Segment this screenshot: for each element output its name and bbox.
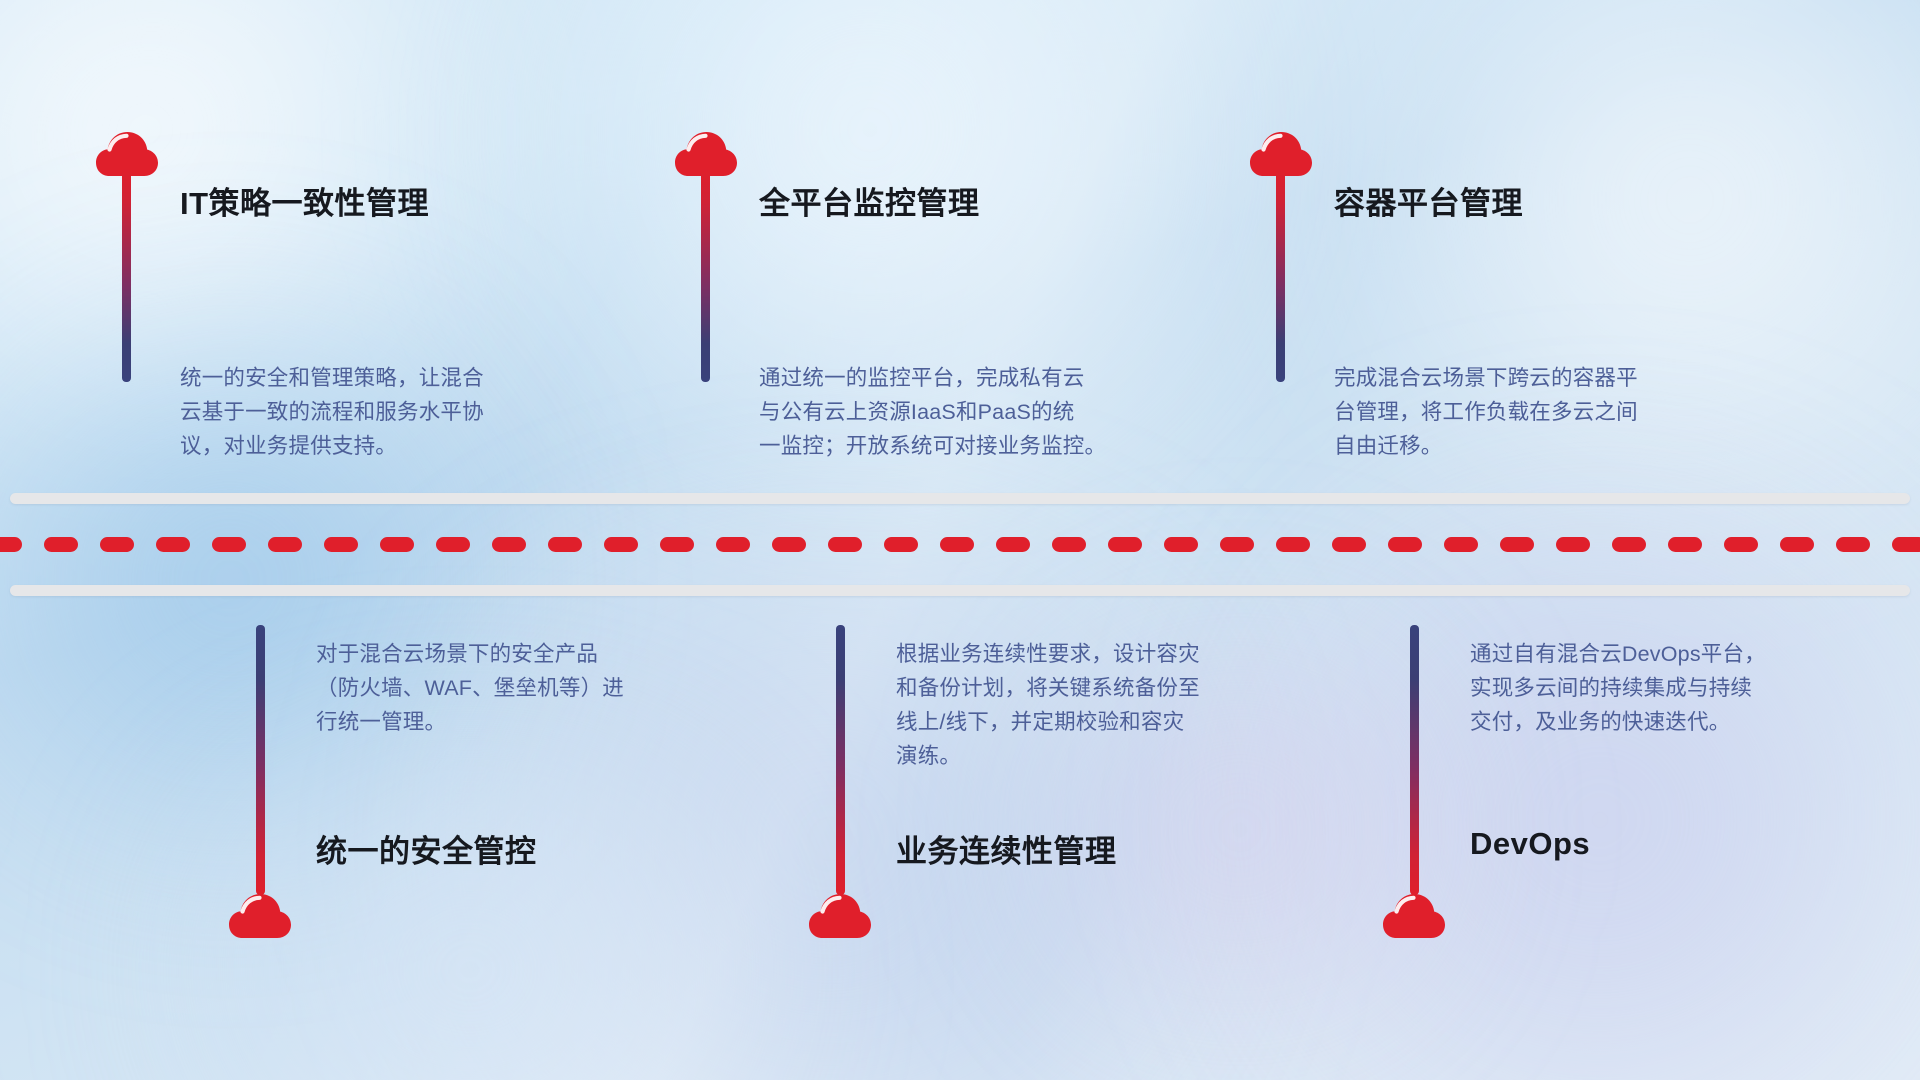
divider-dash	[1668, 537, 1702, 552]
pin-bar	[122, 168, 131, 382]
divider-dash	[548, 537, 582, 552]
divider-dash	[1780, 537, 1814, 552]
divider-dash	[1052, 537, 1086, 552]
divider-dash	[996, 537, 1030, 552]
divider-dash	[0, 537, 22, 552]
divider-dash	[324, 537, 358, 552]
divider-dash	[268, 537, 302, 552]
item-title: 全平台监控管理	[759, 178, 980, 223]
road-divider	[0, 493, 1920, 596]
divider-dash	[1500, 537, 1534, 552]
divider-dash	[44, 537, 78, 552]
divider-dash	[380, 537, 414, 552]
divider-rail-bottom	[10, 585, 1910, 596]
divider-dash	[1276, 537, 1310, 552]
divider-dash	[1444, 537, 1478, 552]
divider-dash	[940, 537, 974, 552]
divider-dash	[156, 537, 190, 552]
cloud-icon	[1383, 893, 1445, 939]
divider-dash	[436, 537, 470, 552]
item-description: 完成混合云场景下跨云的容器平 台管理，将工作负载在多云之间 自由迁移。	[1334, 361, 1764, 463]
divider-dash	[660, 537, 694, 552]
pin-bar	[836, 625, 845, 895]
divider-dash	[1724, 537, 1758, 552]
divider-dashed-line	[0, 537, 1920, 552]
divider-dash	[1836, 537, 1870, 552]
item-title: 统一的安全管控	[316, 826, 537, 871]
item-title: DevOps	[1470, 826, 1590, 862]
pin-bar	[701, 168, 710, 382]
divider-dash	[1556, 537, 1590, 552]
cloud-icon	[809, 893, 871, 939]
infographic-canvas: IT策略一致性管理 统一的安全和管理策略，让混合 云基于一致的流程和服务水平协 …	[0, 0, 1920, 1080]
divider-dash	[1892, 537, 1920, 552]
item-description: 通过自有混合云DevOps平台， 实现多云间的持续集成与持续 交付，及业务的快速…	[1470, 637, 1900, 739]
item-title: IT策略一致性管理	[180, 178, 429, 223]
divider-dash	[100, 537, 134, 552]
divider-dash	[1612, 537, 1646, 552]
divider-dash	[1332, 537, 1366, 552]
divider-rail-top	[10, 493, 1910, 504]
divider-dash	[212, 537, 246, 552]
pin-bar	[1410, 625, 1419, 895]
cloud-icon	[229, 893, 291, 939]
divider-dash	[1164, 537, 1198, 552]
item-description: 统一的安全和管理策略，让混合 云基于一致的流程和服务水平协 议，对业务提供支持。	[180, 361, 610, 463]
item-title: 业务连续性管理	[896, 826, 1117, 871]
divider-dash	[1220, 537, 1254, 552]
divider-dash	[1108, 537, 1142, 552]
item-description: 根据业务连续性要求，设计容灾 和备份计划，将关键系统备份至 线上/线下，并定期校…	[896, 637, 1326, 773]
divider-dash	[772, 537, 806, 552]
pin-bar	[1276, 168, 1285, 382]
pin-bar	[256, 625, 265, 895]
divider-dash	[1388, 537, 1422, 552]
divider-dash	[716, 537, 750, 552]
divider-dash	[884, 537, 918, 552]
divider-dash	[492, 537, 526, 552]
divider-dash	[828, 537, 862, 552]
item-description: 通过统一的监控平台，完成私有云 与公有云上资源IaaS和PaaS的统 一监控；开…	[759, 361, 1199, 463]
divider-dash	[604, 537, 638, 552]
item-description: 对于混合云场景下的安全产品 （防火墙、WAF、堡垒机等）进 行统一管理。	[316, 637, 746, 739]
item-title: 容器平台管理	[1334, 178, 1523, 223]
